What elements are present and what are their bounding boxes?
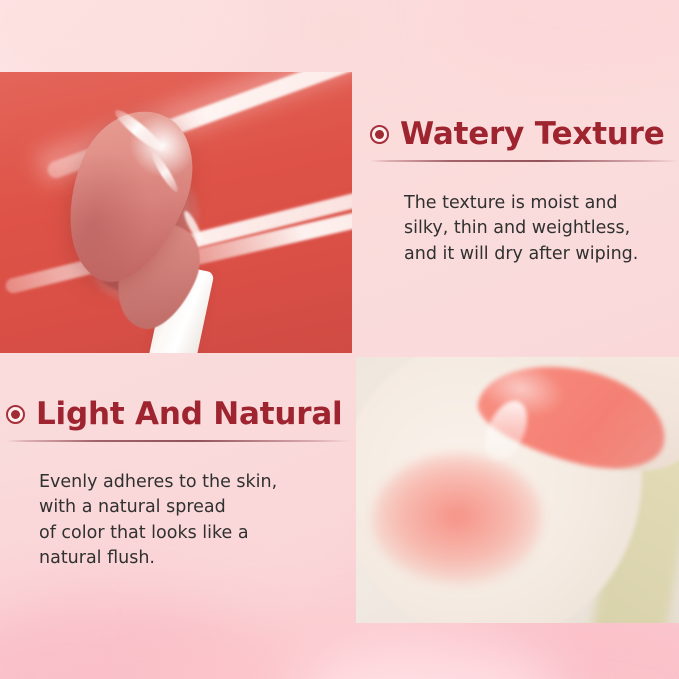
swatch-photo	[356, 357, 679, 623]
applicator-photo	[0, 72, 352, 353]
feature-heading-row: Light And Natural	[6, 398, 351, 431]
blended-blush-swatch	[372, 453, 542, 585]
product-feature-graphic: Watery Texture The texture is moist and …	[0, 0, 679, 679]
background-wash	[0, 600, 270, 679]
background-wash	[430, 0, 679, 90]
feature-body-text: The texture is moist and silky, thin and…	[404, 191, 679, 266]
feature-heading-row: Watery Texture	[370, 118, 679, 151]
heading-divider	[6, 440, 351, 442]
feature-block-light-and-natural: Light And Natural Evenly adheres to the …	[6, 398, 351, 571]
heading-divider	[370, 160, 679, 162]
target-dot-icon	[6, 405, 25, 424]
feature-heading: Watery Texture	[400, 118, 665, 151]
background-wash	[150, 615, 530, 679]
target-dot-icon	[370, 125, 389, 144]
feature-block-watery-texture: Watery Texture The texture is moist and …	[370, 118, 679, 267]
feature-heading: Light And Natural	[36, 398, 342, 431]
feature-body-text: Evenly adheres to the skin, with a natur…	[39, 470, 351, 570]
background-wash	[300, 640, 560, 679]
